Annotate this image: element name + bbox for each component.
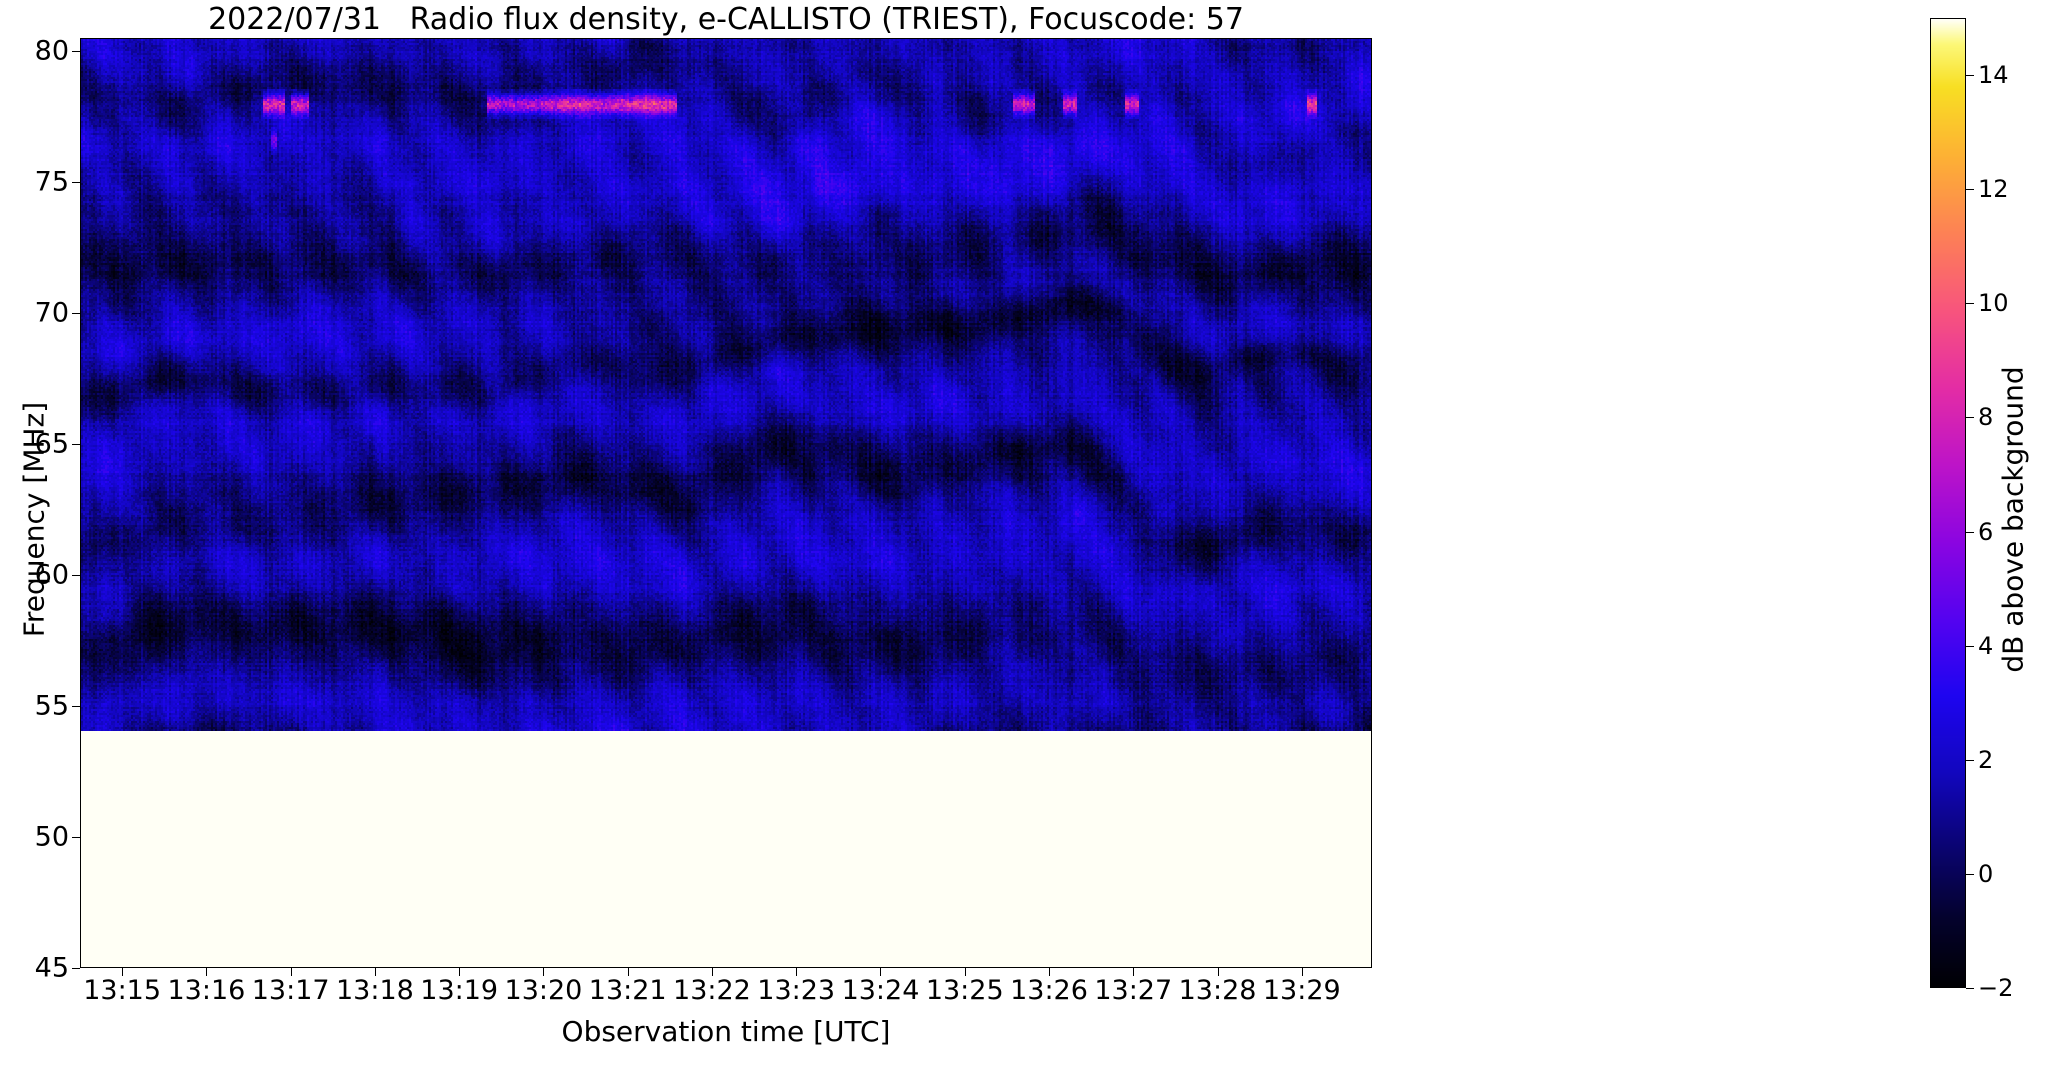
x-tick-mark <box>965 968 966 976</box>
spectrogram-axes[interactable] <box>80 38 1372 968</box>
x-tick-mark <box>628 968 629 976</box>
colorbar-tick-label: 8 <box>1978 403 1993 431</box>
colorbar-tick-mark <box>1966 988 1974 989</box>
x-tick-label: 13:27 <box>1094 975 1172 1006</box>
colorbar-tick-mark <box>1966 189 1974 190</box>
colorbar-tick-label: 2 <box>1978 746 1993 774</box>
colorbar-tick-label: −2 <box>1978 974 2013 1002</box>
y-tick-mark <box>72 837 80 838</box>
y-axis-label: Frequency [MHz] <box>18 270 51 770</box>
x-tick-label: 13:29 <box>1263 975 1341 1006</box>
x-tick-label: 13:28 <box>1179 975 1257 1006</box>
y-tick-label: 50 <box>9 822 69 853</box>
y-tick-mark <box>72 182 80 183</box>
x-tick-mark <box>796 968 797 976</box>
x-tick-label: 13:15 <box>83 975 161 1006</box>
x-tick-label: 13:17 <box>252 975 330 1006</box>
x-tick-mark <box>1218 968 1219 976</box>
spectrogram-image[interactable] <box>81 39 1371 967</box>
colorbar-tick-mark <box>1966 874 1974 875</box>
x-tick-label: 13:20 <box>505 975 583 1006</box>
y-tick-mark <box>72 575 80 576</box>
colorbar-axes[interactable] <box>1930 18 1966 988</box>
x-tick-mark <box>291 968 292 976</box>
y-tick-label: 80 <box>9 36 69 67</box>
x-tick-mark <box>459 968 460 976</box>
colorbar-tick-mark <box>1966 303 1974 304</box>
x-tick-label: 13:19 <box>420 975 498 1006</box>
colorbar-gradient <box>1931 19 1965 987</box>
y-tick-label: 45 <box>9 953 69 984</box>
x-tick-label: 13:16 <box>167 975 245 1006</box>
y-tick-mark <box>72 51 80 52</box>
x-tick-mark <box>122 968 123 976</box>
x-tick-mark <box>1133 968 1134 976</box>
colorbar-tick-mark <box>1966 417 1974 418</box>
colorbar-tick-label: 14 <box>1978 61 2009 89</box>
x-tick-mark <box>543 968 544 976</box>
x-tick-label: 13:24 <box>842 975 920 1006</box>
x-tick-mark <box>375 968 376 976</box>
x-tick-mark <box>206 968 207 976</box>
x-tick-mark <box>880 968 881 976</box>
colorbar-label: dB above background <box>1997 270 2030 770</box>
x-tick-mark <box>712 968 713 976</box>
x-axis-label: Observation time [UTC] <box>80 1015 1372 1048</box>
x-tick-label: 13:25 <box>926 975 1004 1006</box>
colorbar-tick-mark <box>1966 532 1974 533</box>
figure: 2022/07/31 Radio flux density, e-CALLIST… <box>0 0 2047 1067</box>
x-tick-label: 13:23 <box>757 975 835 1006</box>
colorbar-tick-label: 6 <box>1978 518 1993 546</box>
colorbar-tick-mark <box>1966 75 1974 76</box>
y-tick-mark <box>72 968 80 969</box>
y-tick-label: 75 <box>9 167 69 198</box>
y-tick-mark <box>72 444 80 445</box>
x-tick-mark <box>1049 968 1050 976</box>
x-tick-label: 13:26 <box>1010 975 1088 1006</box>
colorbar-tick-mark <box>1966 760 1974 761</box>
x-tick-mark <box>1302 968 1303 976</box>
colorbar-tick-label: 4 <box>1978 632 1993 660</box>
colorbar-tick-mark <box>1966 646 1974 647</box>
y-tick-mark <box>72 706 80 707</box>
colorbar-tick-label: 0 <box>1978 860 1993 888</box>
page-title: 2022/07/31 Radio flux density, e-CALLIST… <box>80 2 1372 38</box>
y-tick-mark <box>72 313 80 314</box>
x-tick-label: 13:22 <box>673 975 751 1006</box>
colorbar-tick-label: 12 <box>1978 175 2009 203</box>
x-tick-label: 13:18 <box>336 975 414 1006</box>
x-tick-label: 13:21 <box>589 975 667 1006</box>
